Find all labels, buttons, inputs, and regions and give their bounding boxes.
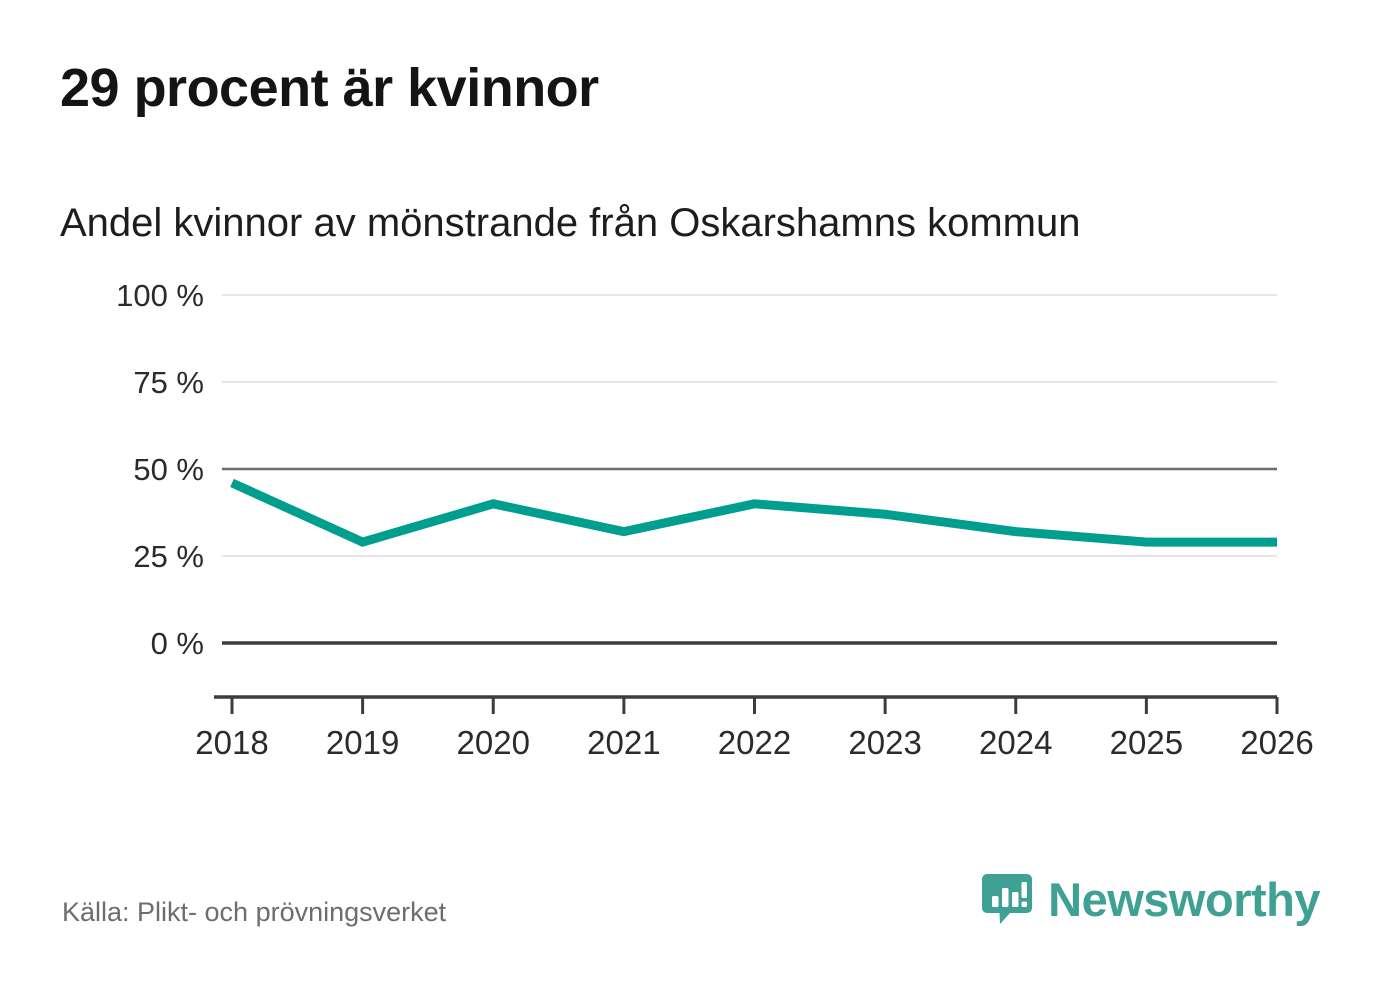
x-tick-label: 2022 [718,724,791,761]
brand-wordmark: Newsworthy [1048,876,1320,923]
bar-chart-speech-bubble-icon [980,872,1034,926]
x-tick-label: 2025 [1110,724,1183,761]
series-line [232,483,1277,542]
y-tick-label: 75 % [133,365,204,400]
page-title: 29 procent är kvinnor [60,57,599,119]
data-series-group [232,483,1277,542]
x-tick-label: 2019 [326,724,399,761]
x-tick-label: 2023 [848,724,921,761]
x-tick-label: 2020 [457,724,530,761]
x-axis-tick-labels: 201820192020202120222023202420252026 [195,724,1313,761]
x-tick-label: 2026 [1240,724,1313,761]
x-axis [214,697,1277,714]
y-tick-label: 100 % [116,278,204,313]
chart-page: 29 procent är kvinnor Andel kvinnor av m… [0,0,1382,999]
y-tick-label: 50 % [133,452,204,487]
gridlines [222,295,1277,643]
x-tick-label: 2021 [587,724,660,761]
y-tick-label: 0 % [151,626,204,661]
chart-canvas: 0 %25 %50 %75 %100 % 2018201920202021202… [0,260,1382,780]
brand-logo: Newsworthy [980,872,1320,926]
y-axis-tick-labels: 0 %25 %50 %75 %100 % [116,278,204,661]
chart-subtitle: Andel kvinnor av mönstrande från Oskarsh… [60,201,1080,246]
source-note: Källa: Plikt- och prövningsverket [62,897,446,928]
x-tick-label: 2024 [979,724,1052,761]
x-tick-label: 2018 [195,724,268,761]
line-chart: 0 %25 %50 %75 %100 % 2018201920202021202… [0,260,1382,780]
y-tick-label: 25 % [133,539,204,574]
